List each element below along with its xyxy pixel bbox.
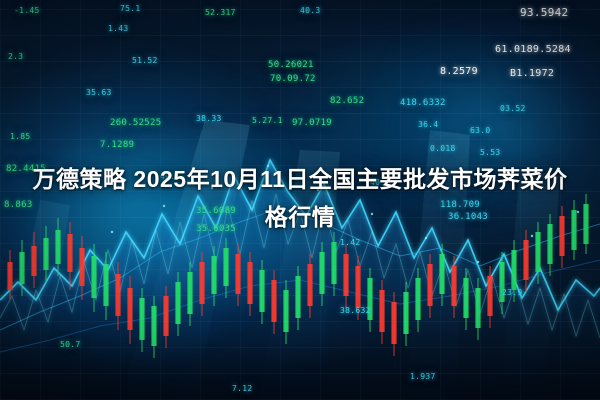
candle-body (199, 262, 204, 304)
candle-body (223, 248, 228, 286)
candle-body (343, 254, 348, 296)
candle-body (523, 240, 528, 280)
candle-body (355, 266, 360, 308)
candle-body (91, 256, 96, 298)
candle-body (151, 306, 156, 346)
candle-body (571, 210, 576, 250)
candle-body (511, 250, 516, 290)
candle-body (439, 254, 444, 294)
candle-body (211, 256, 216, 294)
candle-body (499, 262, 504, 302)
candle-body (175, 282, 180, 324)
candle-body (127, 288, 132, 330)
candle-body (271, 280, 276, 322)
candle-body (43, 238, 48, 270)
candle-body (187, 272, 192, 314)
candle-body (283, 290, 288, 332)
candle-body (115, 274, 120, 316)
headline-text: 万德策略 2025年10月11日全国主要批发市场荠菜价格行情 (28, 160, 572, 236)
candle-body (403, 292, 408, 334)
candle-body (247, 262, 252, 304)
candle-body (163, 296, 168, 336)
candle-body (463, 278, 468, 318)
candle-body (307, 264, 312, 306)
candle-body (451, 266, 456, 306)
candle-body (379, 290, 384, 332)
candle-body (103, 264, 108, 306)
candle-body (79, 248, 84, 286)
candle-body (535, 232, 540, 272)
candle-body (427, 264, 432, 306)
candle-body (7, 262, 12, 290)
candle-body (391, 302, 396, 344)
candle-body (31, 246, 36, 276)
candle-body (331, 242, 336, 284)
candle-body (475, 288, 480, 328)
candle-body (67, 234, 72, 272)
candle-body (295, 276, 300, 318)
screenshot-canvas: -1.4575.152.31740.393.59421.4361.0189.52… (0, 0, 600, 400)
candle-body (235, 254, 240, 294)
candle-body (367, 278, 372, 320)
candle-body (415, 278, 420, 320)
candle-body (583, 204, 588, 244)
candle-body (259, 270, 264, 312)
candle-body (487, 276, 492, 316)
candle-body (139, 298, 144, 340)
candle-body (19, 252, 24, 284)
candle-body (319, 252, 324, 294)
